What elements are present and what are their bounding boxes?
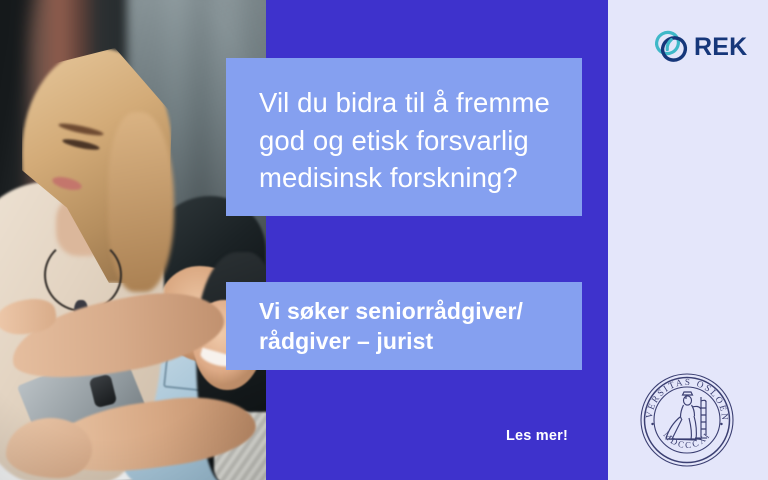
page-title: Vil du bidra til å fremme god og etisk f… [259,84,556,197]
headline-line-2: god og etisk forsvarlig [259,125,529,156]
subheading-line-2: rådgiver – jurist [259,328,433,354]
rek-logo[interactable]: REK [652,27,747,67]
university-of-oslo-seal: UNIVERSITAS OSLOENSIS MDCCCXI [639,372,735,468]
subheading-panel: Vi søker seniorrådgiver/ rådgiver – juri… [226,282,582,370]
job-title: Vi søker seniorrådgiver/ rådgiver – juri… [259,296,562,357]
headline-line-3: medisinsk forskning? [259,162,518,193]
headline-line-1: Vil du bidra til å fremme [259,87,550,118]
rek-interlocking-rings-icon [652,27,692,67]
seal-figure [666,392,707,440]
subheading-line-1: Vi søker seniorrådgiver/ [259,298,523,324]
recruitment-banner: Vil du bidra til å fremme god og etisk f… [0,0,768,480]
rek-wordmark: REK [694,35,747,60]
headline-panel: Vil du bidra til å fremme god og etisk f… [226,58,582,216]
uio-seal-icon: UNIVERSITAS OSLOENSIS MDCCCXI [639,372,735,468]
read-more-link[interactable]: Les mer! [266,428,582,444]
